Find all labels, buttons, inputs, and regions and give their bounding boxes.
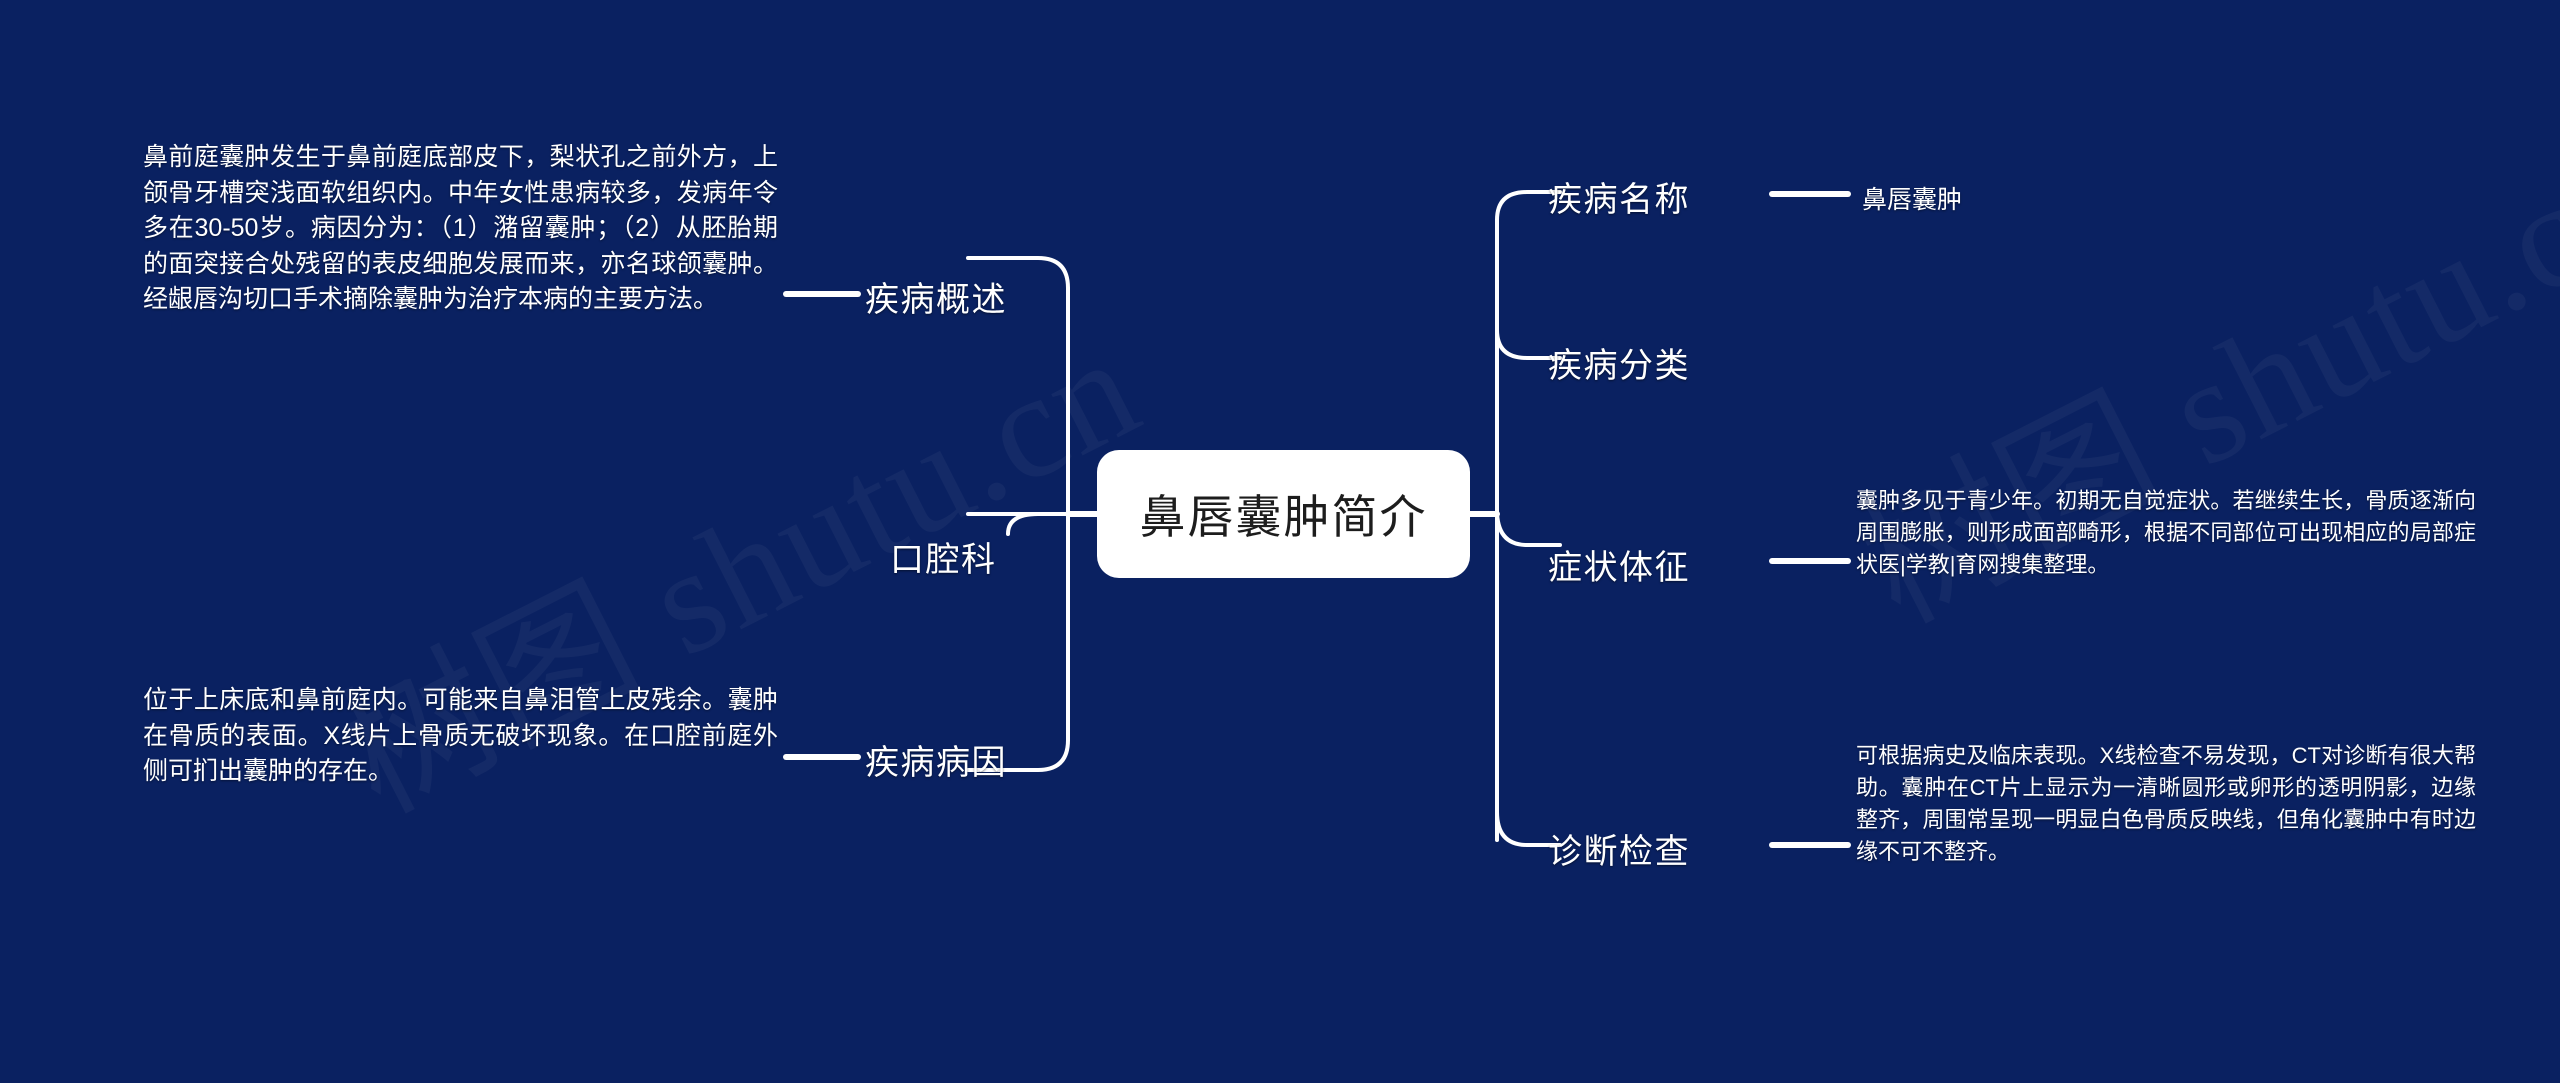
center-node[interactable]: 鼻唇囊肿简介 — [1097, 450, 1470, 578]
branch-label-disease-overview[interactable]: 疾病概述 — [865, 272, 1007, 321]
center-node-title: 鼻唇囊肿简介 — [1140, 481, 1428, 547]
detail-diagnosis: 可根据病史及临床表现。X线检查不易发现，CT对诊断有很大帮助。囊肿在CT片上显示… — [1856, 740, 2476, 868]
left-branch-2 — [1008, 514, 1068, 534]
branch-label-symptoms[interactable]: 症状体征 — [1548, 540, 1690, 589]
branch-label-stomatology[interactable]: 口腔科 — [890, 532, 997, 581]
detail-disease-overview: 鼻前庭囊肿发生于鼻前庭底部皮下，梨状孔之前外方，上颌骨牙槽突浅面软组织内。中年女… — [143, 140, 778, 318]
detail-disease-name: 鼻唇囊肿 — [1862, 180, 1962, 216]
mindmap-canvas: 树图 shutu.cn 树图 shutu.cn 鼻唇囊肿简介 — [0, 0, 2560, 1083]
detail-symptoms: 囊肿多见于青少年。初期无自觉症状。若继续生长，骨质逐渐向周围膨胀，则形成面部畸形… — [1856, 485, 2476, 581]
branch-label-disease-cause[interactable]: 疾病病因 — [865, 735, 1007, 784]
branch-label-disease-classification[interactable]: 疾病分类 — [1548, 338, 1690, 387]
branch-label-diagnosis[interactable]: 诊断检查 — [1548, 824, 1690, 873]
branch-label-disease-name[interactable]: 疾病名称 — [1548, 172, 1690, 221]
detail-disease-cause: 位于上床底和鼻前庭内。可能来自鼻泪管上皮残余。囊肿在骨质的表面。X线片上骨质无破… — [143, 683, 778, 790]
